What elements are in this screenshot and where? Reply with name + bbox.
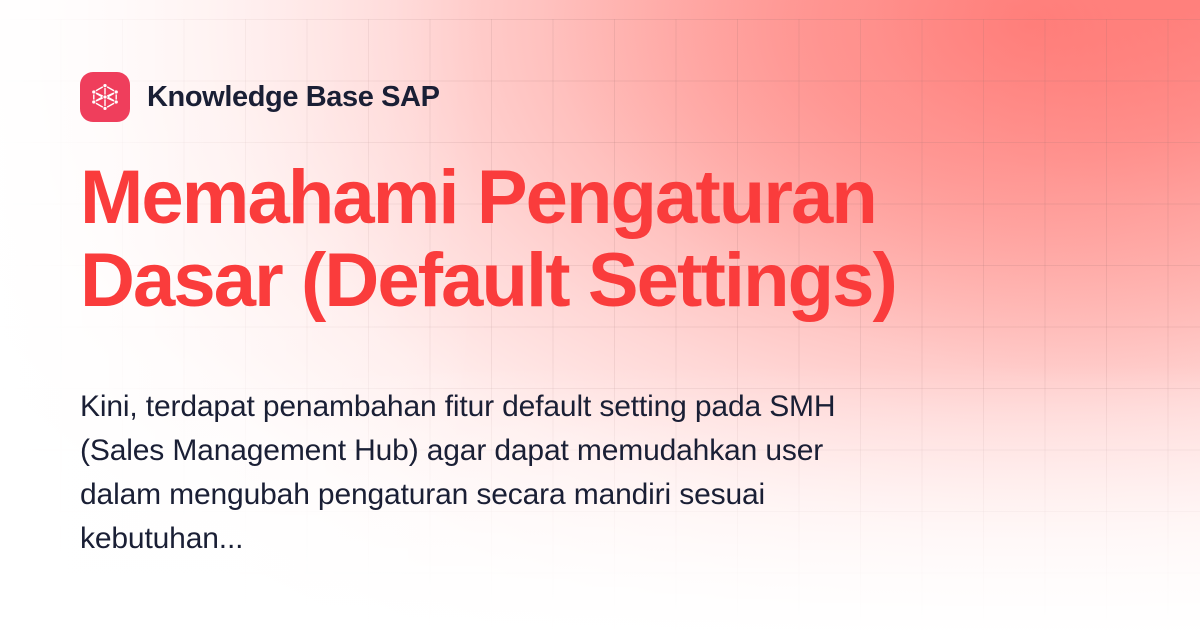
brand-name: Knowledge Base SAP [147, 81, 440, 114]
page-title: Memahami Pengaturan Dasar (Default Setti… [80, 157, 1090, 323]
brand-lockup: Knowledge Base SAP [80, 72, 440, 122]
network-cube-icon [89, 81, 121, 113]
card-content: Knowledge Base SAP Memahami Pengaturan D… [80, 0, 1120, 630]
social-share-card: Knowledge Base SAP Memahami Pengaturan D… [0, 0, 1200, 630]
article-summary: Kini, terdapat penambahan fitur default … [80, 385, 910, 561]
brand-logo-badge [80, 72, 130, 122]
